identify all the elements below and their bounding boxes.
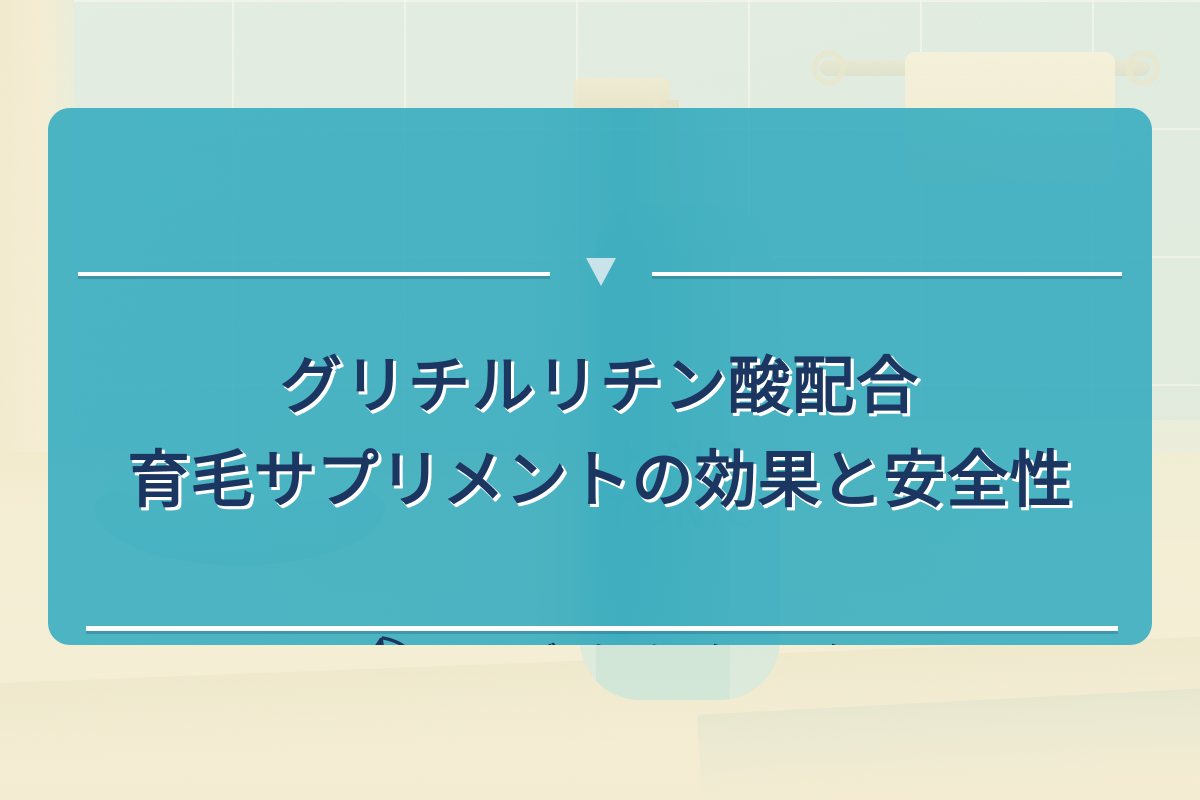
top-divider xyxy=(48,263,1152,285)
top-divider-line-right xyxy=(652,272,1122,276)
bottom-divider xyxy=(86,626,1118,631)
page-title: グリチルリチン酸配合 育毛サプリメントの効果と安全性 xyxy=(48,340,1152,528)
thumbnail-canvas: HAIR TONIC グリチルリチン酸配合 育毛サプリメントの効果と安全性 xyxy=(0,0,1200,800)
triangle-down-icon xyxy=(586,258,616,286)
brand-name: AGAメディカルケアクリニック xyxy=(432,644,849,645)
page-title-line-1: グリチルリチン酸配合 xyxy=(48,340,1152,434)
page-title-line-2: 育毛サプリメントの効果と安全性 xyxy=(48,434,1152,528)
title-card: グリチルリチン酸配合 育毛サプリメントの効果と安全性 AGAメディカルケアクリニ… xyxy=(48,108,1152,645)
top-divider-line-left xyxy=(78,272,550,276)
aga-monogram-icon xyxy=(350,634,416,645)
brand-lockup: AGAメディカルケアクリニック xyxy=(48,634,1152,645)
